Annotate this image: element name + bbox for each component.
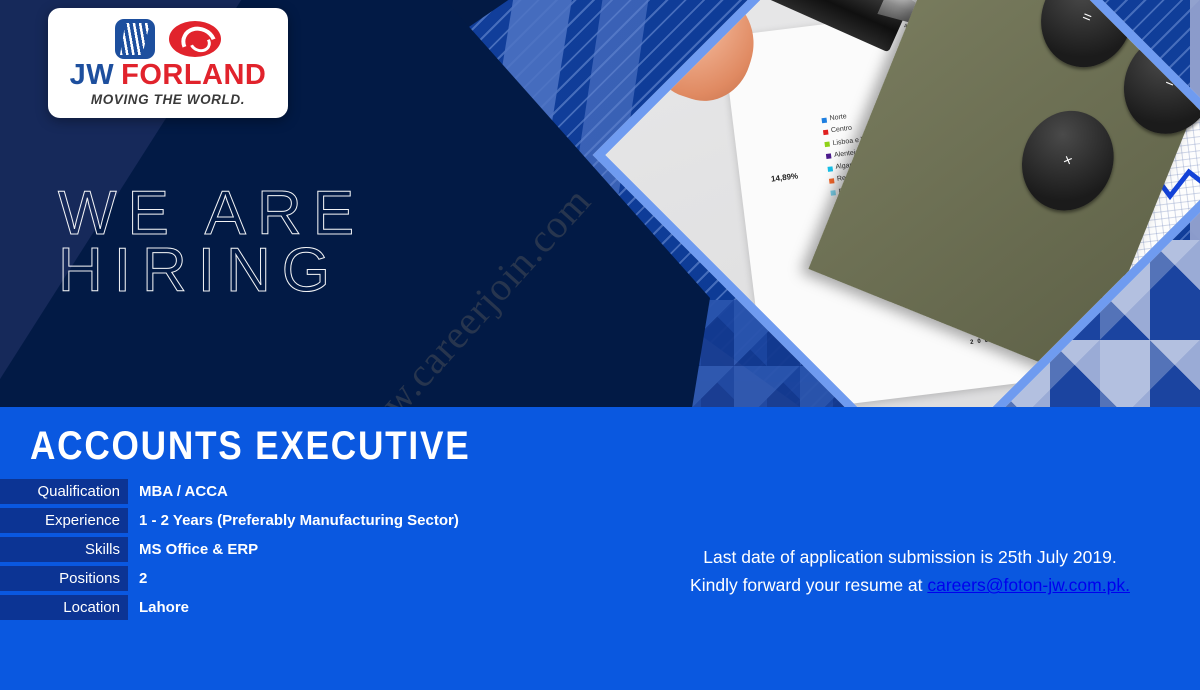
headline-line-2: HIRING (58, 242, 365, 299)
brand-name-jw: JW (70, 61, 115, 90)
submission-prefix: Kindly forward your resume at (690, 575, 927, 595)
contact-block: Last date of application submission is 2… (640, 543, 1180, 600)
email-link[interactable]: careers@foton-jw.com.pk. (927, 575, 1130, 595)
brand-logo-card: JW FORLAND MOVING THE WORLD. (48, 8, 288, 118)
detail-value-experience: 1 - 2 Years (Preferably Manufacturing Se… (128, 512, 459, 529)
job-title: ACCOUNTS EXECUTIVE (30, 424, 470, 469)
deadline-text: Last date of application submission is 2… (640, 543, 1180, 571)
job-details-table: Qualification MBA / ACCA Experience 1 - … (0, 479, 560, 624)
table-row: Experience 1 - 2 Years (Preferably Manuf… (0, 508, 560, 533)
brand-wordmark: JW FORLAND (70, 61, 267, 90)
headline: WE ARE HIRING (58, 185, 365, 299)
detail-value-positions: 2 (128, 570, 147, 587)
foton-oval-icon (169, 21, 221, 57)
calc-key-multiply: × (1007, 97, 1128, 224)
detail-label-location: Location (0, 595, 128, 620)
detail-label-experience: Experience (0, 508, 128, 533)
detail-label-qualification: Qualification (0, 479, 128, 504)
detail-value-location: Lahore (128, 599, 189, 616)
detail-value-skills: MS Office & ERP (128, 541, 258, 558)
headline-line-1: WE ARE (58, 185, 365, 242)
logo-marks-row (115, 19, 221, 59)
table-row: Skills MS Office & ERP (0, 537, 560, 562)
table-row: Qualification MBA / ACCA (0, 479, 560, 504)
brand-tagline: MOVING THE WORLD. (91, 92, 245, 107)
jw-speedlines-icon (115, 19, 155, 59)
detail-label-positions: Positions (0, 566, 128, 591)
job-ad-poster: 4.56 4.15 3.75 3.34 2.93 2.53 2.12 1.72 … (0, 0, 1200, 690)
table-row: Location Lahore (0, 595, 560, 620)
detail-value-qualification: MBA / ACCA (128, 483, 228, 500)
brand-name-forland: FORLAND (121, 61, 266, 90)
detail-label-skills: Skills (0, 537, 128, 562)
table-row: Positions 2 (0, 566, 560, 591)
submission-text: Kindly forward your resume at careers@fo… (640, 571, 1180, 599)
